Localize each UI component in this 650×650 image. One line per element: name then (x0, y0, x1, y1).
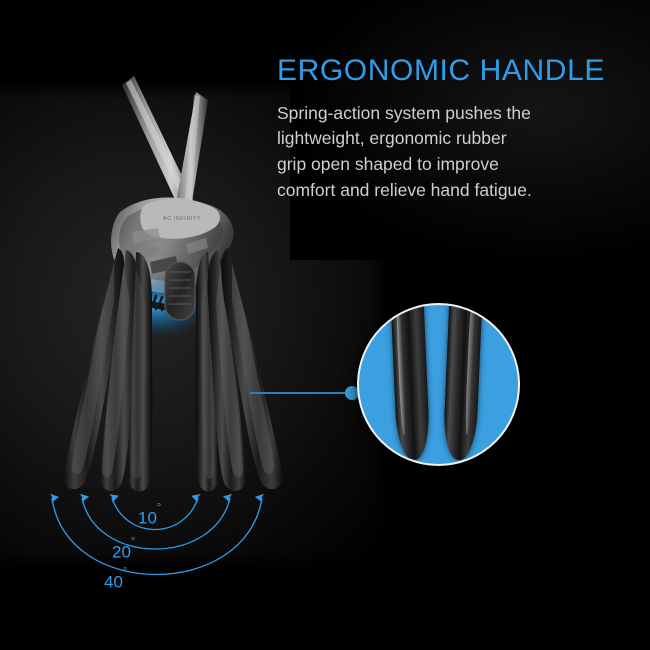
angle-indicator-group (0, 0, 650, 650)
angle-label-10: 10° (138, 508, 161, 529)
angle-label-20: 20° (112, 542, 135, 563)
product-feature-slide: AC INFINITY (0, 0, 650, 650)
angle-label-40: 40° (104, 572, 127, 593)
